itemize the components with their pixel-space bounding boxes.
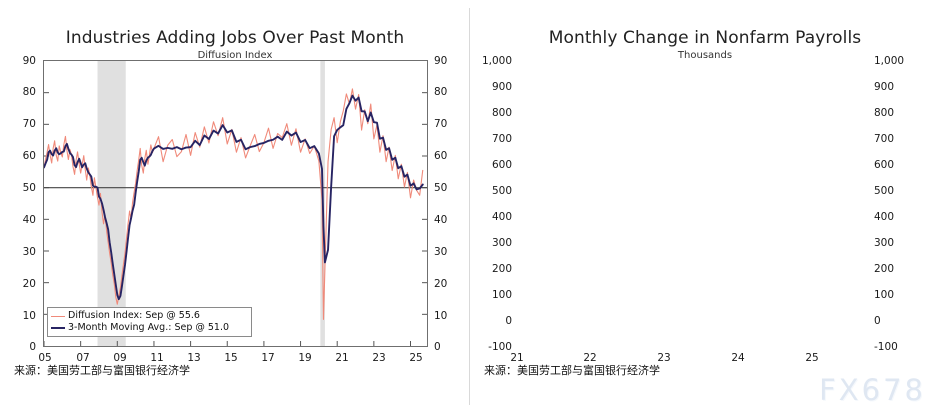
left-xtick-15: 15 — [219, 352, 243, 364]
left-ytick-right-60: 60 — [434, 150, 460, 162]
right-ytick-1000: 1,000 — [472, 55, 512, 67]
left-ytick-40: 40 — [10, 214, 36, 226]
left-ytick-right-10: 10 — [434, 310, 460, 322]
fx678-watermark: FX678 — [819, 373, 926, 407]
right-chart-source: 来源：美国劳工部与富国银行经济学 — [484, 362, 660, 378]
legend-item-3mo-moving-avg: 3-Month Moving Avg.: Sep @ 51.0 — [51, 322, 247, 334]
left-ytick-right-0: 0 — [434, 341, 460, 353]
left-xtick-21: 21 — [330, 352, 354, 364]
legend-item-diffusion-index: Diffusion Index: Sep @ 55.6 — [51, 310, 247, 322]
legend-swatch-3mo-moving-avg — [51, 327, 65, 329]
legend-label-diffusion-index: Diffusion Index: Sep @ 55.6 — [68, 310, 200, 322]
left-ytick-50: 50 — [10, 182, 36, 194]
legend-label-3mo-moving-avg: 3-Month Moving Avg.: Sep @ 51.0 — [68, 322, 229, 334]
right-ytick-right-1000: 1,000 — [874, 55, 918, 67]
right-ytick-800: 800 — [472, 107, 512, 119]
left-xtick-17: 17 — [256, 352, 280, 364]
right-xtick-25: 25 — [800, 352, 824, 364]
left-ytick-right-50: 50 — [434, 182, 460, 194]
right-ytick-right-0: 0 — [874, 315, 918, 327]
right-xtick-24: 24 — [726, 352, 750, 364]
left-ytick-right-70: 70 — [434, 118, 460, 130]
right-ytick-900: 900 — [472, 81, 512, 93]
right-ytick-right-400: 400 — [874, 211, 918, 223]
left-chart-legend: Diffusion Index: Sep @ 55.6 3-Month Movi… — [47, 307, 252, 337]
left-ytick-30: 30 — [10, 246, 36, 258]
left-chart-title: Industries Adding Jobs Over Past Month — [0, 28, 470, 48]
right-ytick-right-100: 100 — [874, 289, 918, 301]
right-ytick-600: 600 — [472, 159, 512, 171]
left-plot-area — [43, 60, 428, 347]
left-ytick-right-90: 90 — [434, 55, 460, 67]
right-chart-panel: Monthly Change in Nonfarm Payrolls Thous… — [470, 0, 940, 413]
right-ytick-right-900: 900 — [874, 81, 918, 93]
right-chart-subtitle: Thousands — [470, 50, 940, 61]
right-ytick-right-700: 700 — [874, 133, 918, 145]
right-ytick-300: 300 — [472, 237, 512, 249]
left-xtick-19: 19 — [293, 352, 317, 364]
left-ytick-right-20: 20 — [434, 278, 460, 290]
left-xtick-23: 23 — [367, 352, 391, 364]
left-xtick-25: 25 — [404, 352, 428, 364]
right-ytick-700: 700 — [472, 133, 512, 145]
right-ytick-0: 0 — [472, 315, 512, 327]
left-ytick-right-80: 80 — [434, 86, 460, 98]
right-ytick-right-300: 300 — [874, 237, 918, 249]
right-chart-title: Monthly Change in Nonfarm Payrolls — [470, 28, 940, 48]
right-ytick-100: 100 — [472, 289, 512, 301]
left-ytick-70: 70 — [10, 118, 36, 130]
left-ytick-20: 20 — [10, 278, 36, 290]
left-ytick-90: 90 — [10, 55, 36, 67]
left-ytick-10: 10 — [10, 310, 36, 322]
right-ytick-right-neg100: -100 — [874, 341, 918, 353]
right-ytick-500: 500 — [472, 185, 512, 197]
right-ytick-right-500: 500 — [874, 185, 918, 197]
left-ytick-60: 60 — [10, 150, 36, 162]
right-ytick-right-600: 600 — [874, 159, 918, 171]
right-ytick-400: 400 — [472, 211, 512, 223]
legend-swatch-diffusion-index — [51, 316, 65, 317]
left-chart-source: 来源：美国劳工部与富国银行经济学 — [14, 362, 190, 378]
left-ytick-80: 80 — [10, 86, 36, 98]
left-chart-panel: Industries Adding Jobs Over Past Month D… — [0, 0, 470, 413]
right-ytick-right-200: 200 — [874, 263, 918, 275]
left-ytick-right-30: 30 — [434, 246, 460, 258]
left-ytick-right-40: 40 — [434, 214, 460, 226]
right-ytick-right-800: 800 — [874, 107, 918, 119]
right-ytick-200: 200 — [472, 263, 512, 275]
